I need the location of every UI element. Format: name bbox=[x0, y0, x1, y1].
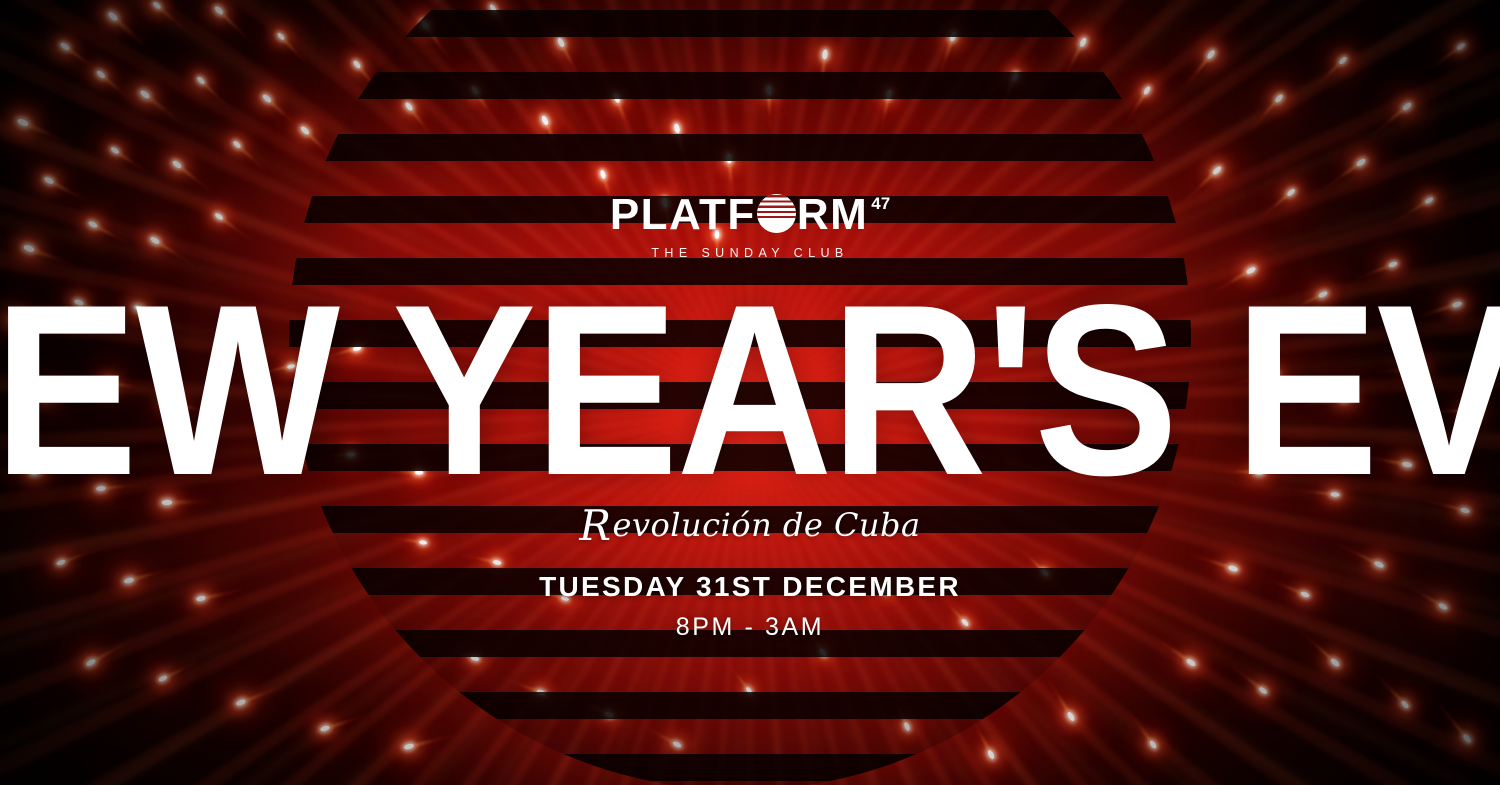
logo-wordmark: PLATF RM 47 bbox=[610, 193, 890, 237]
event-date: TUESDAY 31ST DECEMBER bbox=[539, 571, 961, 603]
event-headline: NEW YEAR'S EVE bbox=[0, 278, 1500, 502]
logo-text-after-sphere: RM bbox=[797, 193, 868, 237]
event-time: 8PM - 3AM bbox=[676, 613, 824, 642]
poster-content: PLATF RM 47 THE SUNDAY CLUB NEW YEAR'S E… bbox=[0, 0, 1500, 785]
nye-event-poster: PLATF RM 47 THE SUNDAY CLUB NEW YEAR'S E… bbox=[0, 0, 1500, 785]
striped-sphere-icon bbox=[757, 194, 796, 233]
sphere-icon-stripes bbox=[757, 194, 796, 233]
logo-text-before-sphere: PLATF bbox=[610, 193, 756, 237]
platform-47-logo: PLATF RM 47 THE SUNDAY CLUB bbox=[610, 193, 890, 260]
logo-superscript-47: 47 bbox=[871, 195, 890, 212]
